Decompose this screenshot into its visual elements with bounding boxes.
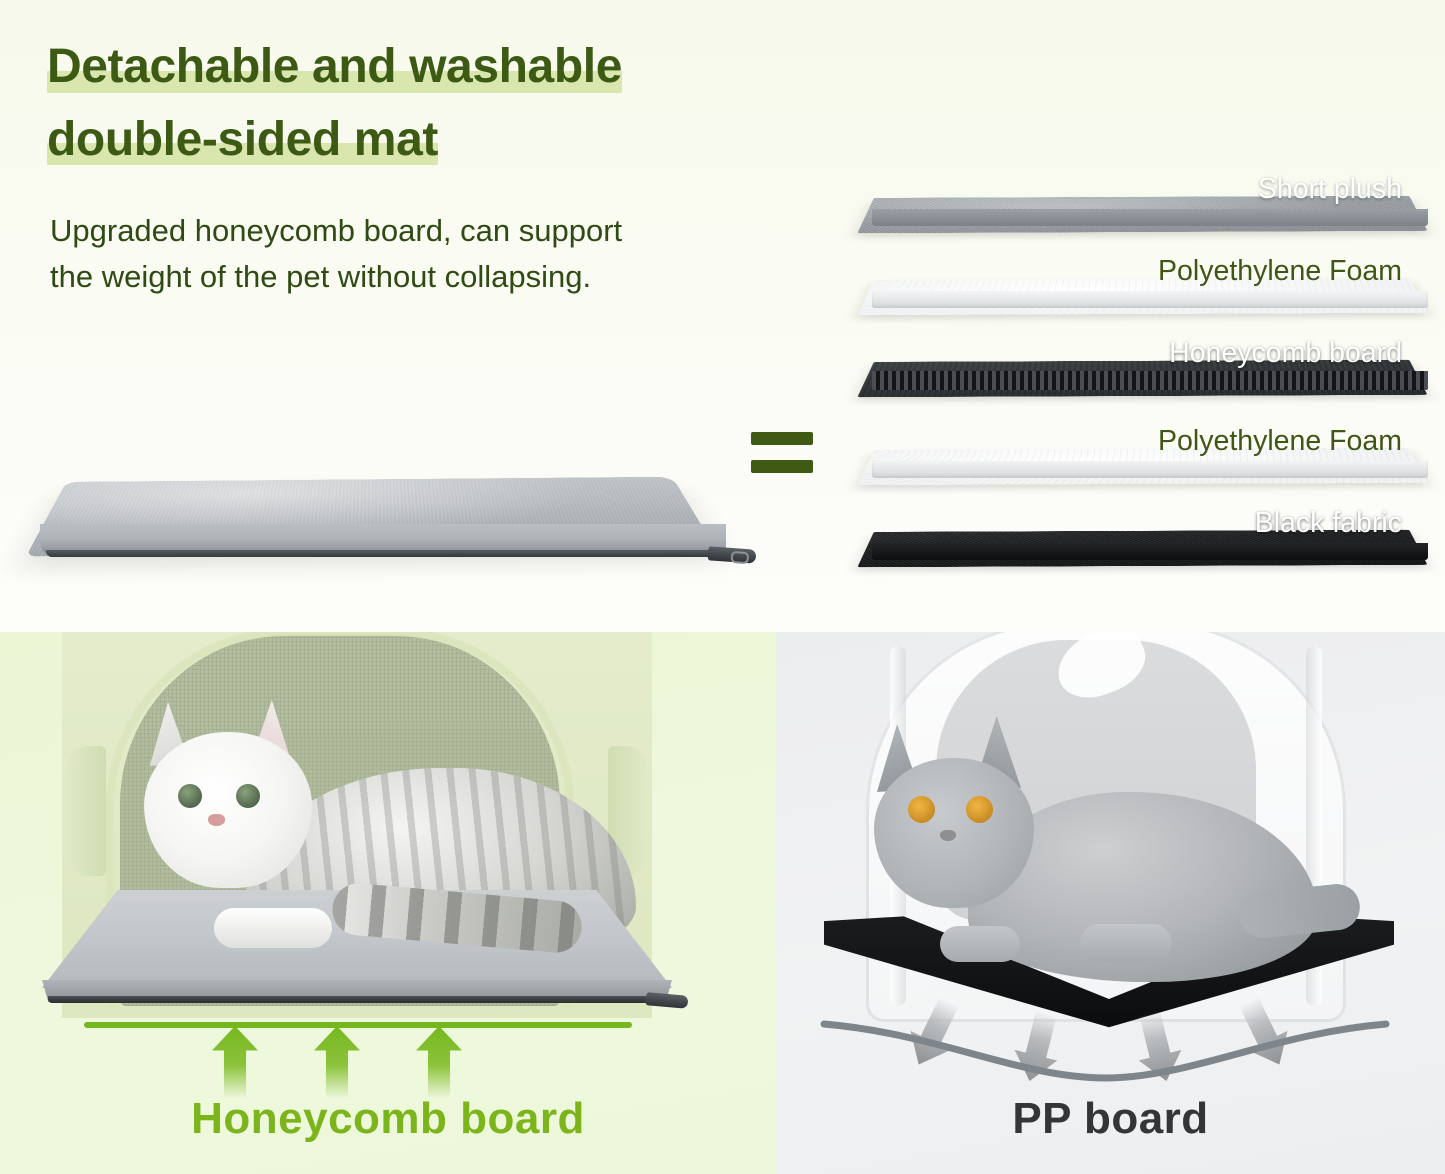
headline-text-1: Detachable and washable [47,38,622,97]
up-arrow-icon [416,1026,462,1098]
headline-line-1: Detachable and washable [47,38,622,97]
comparison-panel-honeycomb: Honeycomb board [0,632,776,1174]
cat-paw-front-left [940,926,1020,962]
top-section: Detachable and washable double-sided mat… [0,0,1445,632]
layer-honeycomb-board: Honeycomb board [858,304,1428,396]
layer-polyethylene-foam-bottom: Polyethylene Foam [858,392,1428,484]
equals-bar-top [751,432,813,445]
layer-stack-diagram: Short plush Polyethylene Foam Honeycomb … [858,140,1428,580]
layer-label: Polyethylene Foam [1158,255,1402,288]
subcopy-line-2: the weight of the pet without collapsing… [50,254,810,300]
up-arrow-icon [212,1026,258,1098]
layer-polyethylene-foam-top: Polyethylene Foam [858,222,1428,314]
mat-zipper-line [48,996,666,1003]
layer-label: Honeycomb board [1169,337,1402,370]
cat-head [144,732,312,888]
honeycomb-board-label: Honeycomb board [0,1094,776,1144]
layer-label: Short plush [1258,173,1402,206]
cat-eye-right [236,784,260,808]
equals-bar-bottom [751,460,813,473]
cat-british-shorthair [840,712,1360,1012]
subcopy: Upgraded honeycomb board, can support th… [50,208,810,300]
comparison-section: Honeycomb board [0,632,1445,1174]
cat-paws [214,908,332,948]
headline-line-2: double-sided mat [47,111,438,170]
cat-eye-left [178,784,202,808]
zipper-pull-icon [646,992,689,1009]
headline: Detachable and washable double-sided mat [47,38,887,177]
up-arrow-icon [314,1026,360,1098]
layer-label: Black fabric [1255,507,1402,540]
cat-nose [940,830,956,841]
equals-sign-icon [751,432,813,490]
zipper-pull-icon [708,546,757,563]
mat-zipper-line [46,550,718,557]
headline-text-2: double-sided mat [47,111,438,170]
product-mat-photo [18,398,758,588]
infographic-page: Detachable and washable double-sided mat… [0,0,1445,1174]
cat-paw-front-right [1080,924,1172,962]
support-line-sagging [820,1016,1390,1086]
layer-label: Polyethylene Foam [1158,425,1402,458]
layer-corrugated-edge [872,371,1428,390]
layer-short-plush: Short plush [858,140,1428,232]
support-line-straight [84,1022,632,1028]
cat-nose [208,814,225,826]
layer-black-fabric: Black fabric [858,474,1428,566]
layer-edge [872,543,1428,560]
cat-eye-left [908,796,935,823]
subcopy-line-1: Upgraded honeycomb board, can support [50,208,810,254]
comparison-panel-pp: PP board [776,632,1445,1174]
pp-board-label: PP board [776,1094,1445,1144]
cat-eye-right [966,796,993,823]
